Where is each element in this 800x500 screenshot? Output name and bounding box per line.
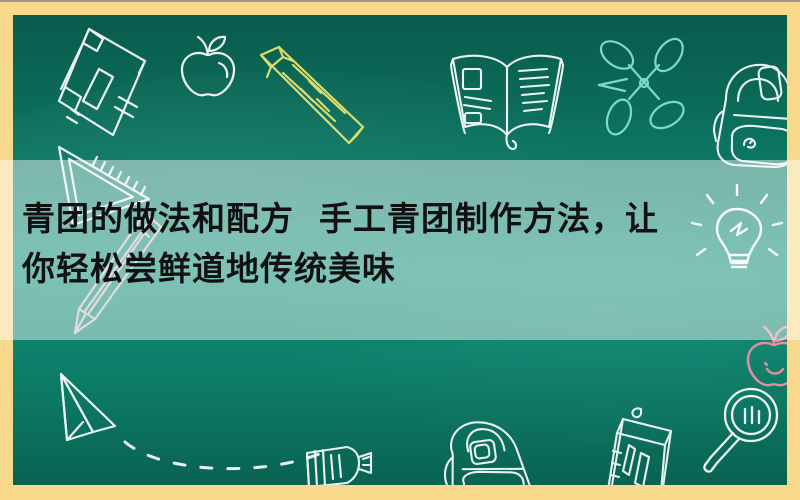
magnifier-icon [703,385,783,475]
open-book-icon [443,45,573,155]
backpack-icon [708,53,787,173]
glue-tube-icon [303,445,373,485]
title-block: 青团的做法和配方 手工青团制作方法，让 你轻松尝鲜道地传统美味 [0,160,800,340]
apple-icon [173,35,243,105]
closed-book-icon [53,23,163,143]
title-line-1: 青团的做法和配方 手工青团制作方法，让 [22,194,774,244]
backpack-small-icon [441,413,541,485]
dashed-trail-icon [123,440,323,480]
scissors-icon [593,33,703,143]
top-hairline-divider [0,0,800,2]
paper-plane-icon [53,370,133,460]
standing-book-icon [593,405,693,485]
title-line-2: 你轻松尝鲜道地传统美味 [22,244,774,294]
crayon-icon [253,43,383,153]
poster-canvas: 青团的做法和配方 手工青团制作方法，让 你轻松尝鲜道地传统美味 [0,0,800,500]
